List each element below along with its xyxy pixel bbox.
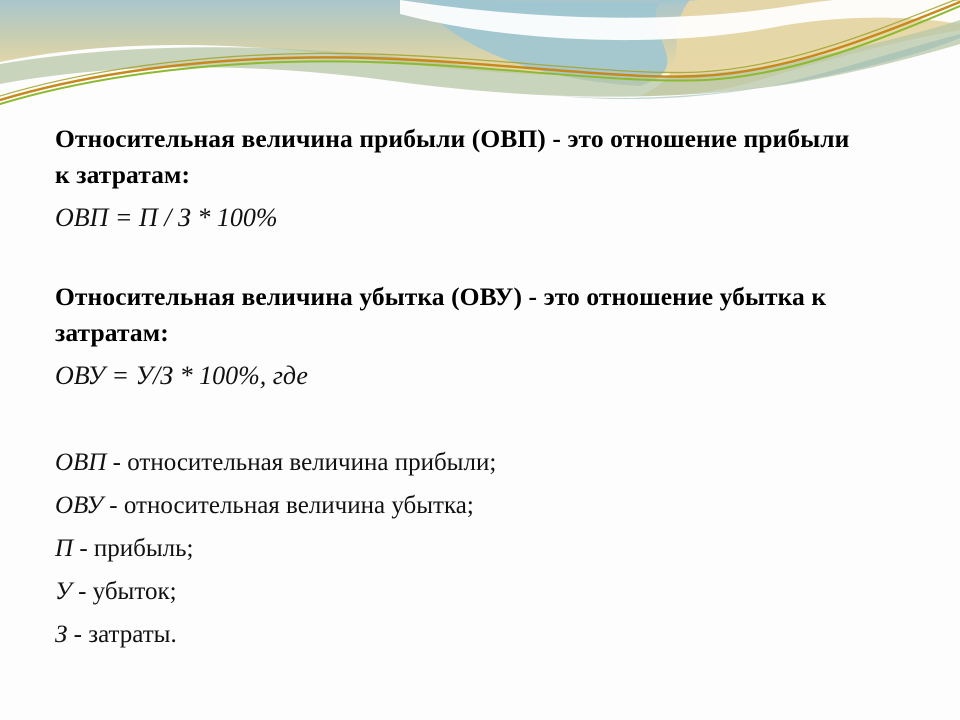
list-item: П - прибыль;	[55, 527, 915, 570]
wave-header-graphic	[0, 0, 960, 112]
list-item: ОВП - относительная величина прибыли;	[55, 441, 915, 484]
list-item: З - затраты.	[55, 613, 915, 656]
definition-text: относительная величина прибыли;	[127, 449, 496, 476]
paragraph-ovp-definition: Относительная величина прибыли (ОВП) - э…	[55, 112, 855, 193]
presentation-slide: Относительная величина прибыли (ОВП) - э…	[0, 0, 960, 720]
definition-text: относительная величина убытка;	[124, 492, 474, 519]
definition-abbreviation: П	[55, 535, 73, 562]
definition-text: убыток;	[93, 578, 177, 605]
definition-abbreviation: ОВУ	[55, 492, 103, 519]
formula-ovp: ОВП = П / З * 100%	[55, 193, 915, 238]
definition-abbreviation: ОВП	[55, 449, 106, 476]
definition-text: затраты.	[88, 621, 176, 648]
definitions-list: ОВП - относительная величина прибыли; ОВ…	[55, 441, 915, 656]
definition-abbreviation: У	[55, 578, 72, 605]
wave-header-banner	[0, 0, 960, 112]
paragraph-spacer-1	[55, 238, 915, 279]
definition-separator: -	[72, 578, 93, 605]
paragraph-ovu-definition: Относительная величина убытка (ОВУ) - эт…	[55, 279, 855, 351]
paragraph-spacer-2	[55, 396, 915, 441]
slide-body-content: Относительная величина прибыли (ОВП) - э…	[55, 112, 915, 656]
formula-ovu: ОВУ = У/З * 100%, где	[55, 351, 915, 396]
list-item: ОВУ - относительная величина убытка;	[55, 484, 915, 527]
definition-abbreviation: З	[55, 621, 67, 648]
definition-separator: -	[103, 492, 124, 519]
definition-separator: -	[106, 449, 127, 476]
definition-text: прибыль;	[94, 535, 194, 562]
list-item: У - убыток;	[55, 570, 915, 613]
definition-separator: -	[67, 621, 88, 648]
definition-separator: -	[73, 535, 94, 562]
